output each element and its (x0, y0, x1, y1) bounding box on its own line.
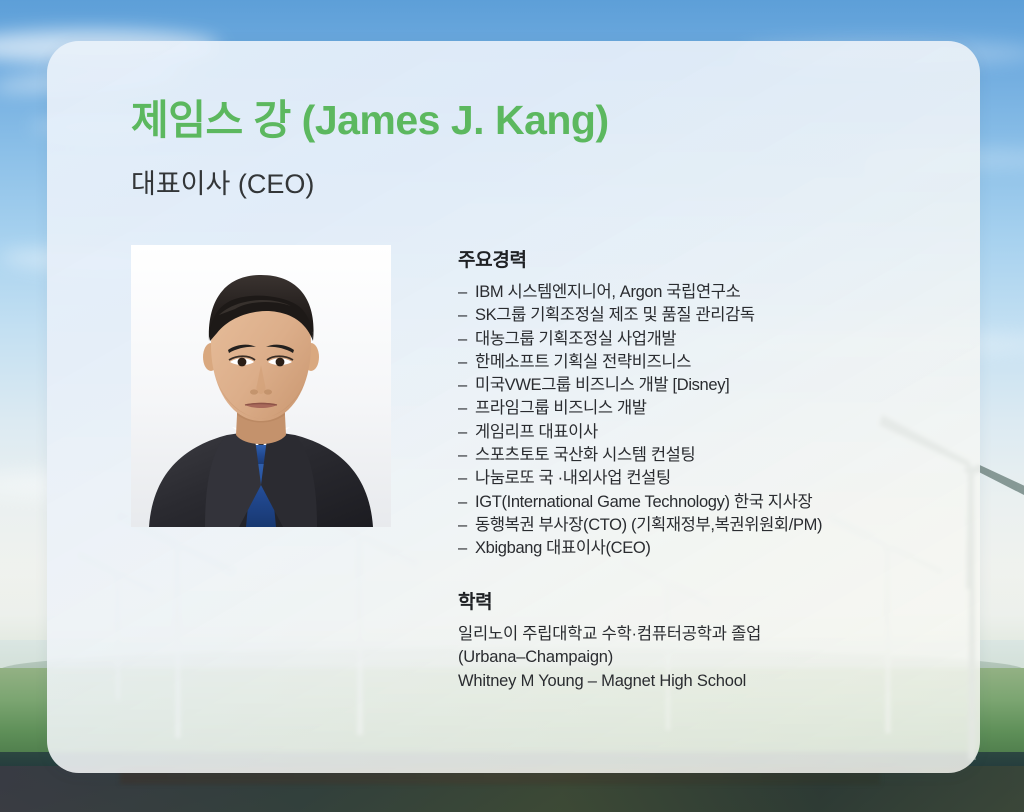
page-title: 제임스 강 (James J. Kang) (131, 86, 609, 146)
experience-item: –게임리프 대표이사 (458, 421, 888, 444)
education-line: 일리노이 주립대학교 수학·컴퓨터공학과 졸업 (458, 623, 888, 647)
bullet-dash-icon: – (458, 397, 467, 420)
experience-item: –한메소프트 기획실 전략비즈니스 (458, 351, 888, 374)
experience-item-label: 한메소프트 기획실 전략비즈니스 (475, 353, 691, 371)
education-line: (Urbana–Champaign) (458, 646, 888, 670)
experience-item: –스포츠토토 국산화 시스템 컨설팅 (458, 444, 888, 467)
experience-heading: 주요경력 (458, 245, 888, 272)
bullet-dash-icon: – (458, 328, 467, 351)
experience-item-label: 대농그룹 기획조정실 사업개발 (475, 330, 676, 348)
bullet-dash-icon: – (458, 444, 467, 467)
bullet-dash-icon: – (458, 304, 467, 327)
experience-item-label: Xbigbang 대표이사(CEO) (475, 539, 650, 557)
profile-position: 대표이사 (CEO) (131, 162, 314, 201)
bullet-dash-icon: – (458, 514, 467, 537)
education-block: 학력 일리노이 주립대학교 수학·컴퓨터공학과 졸업(Urbana–Champa… (458, 587, 888, 694)
experience-item-label: 동행복권 부사장(CTO) (기획재정부,복권위원회/PM) (475, 516, 822, 534)
experience-item: –미국VWE그룹 비즈니스 개발 [Disney] (458, 374, 888, 397)
experience-item-label: 스포츠토토 국산화 시스템 컨설팅 (475, 446, 695, 464)
experience-item: –프라임그룹 비즈니스 개발 (458, 397, 888, 420)
details-column: 주요경력 –IBM 시스템엔지니어, Argon 국립연구소–SK그룹 기획조정… (458, 245, 888, 693)
bullet-dash-icon: – (458, 467, 467, 490)
experience-item-label: 나눔로또 국 ·내외사업 컨설팅 (475, 469, 671, 487)
bullet-dash-icon: – (458, 281, 467, 304)
experience-item-label: 미국VWE그룹 비즈니스 개발 [Disney] (475, 376, 729, 394)
experience-item-label: IBM 시스템엔지니어, Argon 국립연구소 (475, 283, 740, 301)
headshot-illustration (131, 245, 391, 527)
experience-item-label: IGT(International Game Technology) 한국 지사… (475, 493, 812, 511)
experience-item: –IBM 시스템엔지니어, Argon 국립연구소 (458, 281, 888, 304)
experience-item: –나눔로또 국 ·내외사업 컨설팅 (458, 467, 888, 490)
avatar (131, 245, 391, 527)
experience-item-label: SK그룹 기획조정실 제조 및 품질 관리감독 (475, 306, 755, 324)
experience-item-label: 프라임그룹 비즈니스 개발 (475, 399, 647, 417)
experience-item: –Xbigbang 대표이사(CEO) (458, 537, 888, 560)
experience-item: –동행복권 부사장(CTO) (기획재정부,복권위원회/PM) (458, 514, 888, 537)
bullet-dash-icon: – (458, 537, 467, 560)
bullet-dash-icon: – (458, 421, 467, 444)
experience-item: –IGT(International Game Technology) 한국 지… (458, 491, 888, 514)
experience-list: –IBM 시스템엔지니어, Argon 국립연구소–SK그룹 기획조정실 제조 … (458, 281, 888, 561)
bullet-dash-icon: – (458, 491, 467, 514)
experience-item: –대농그룹 기획조정실 사업개발 (458, 328, 888, 351)
bullet-dash-icon: – (458, 374, 467, 397)
experience-item-label: 게임리프 대표이사 (475, 423, 598, 441)
experience-item: –SK그룹 기획조정실 제조 및 품질 관리감독 (458, 304, 888, 327)
bullet-dash-icon: – (458, 351, 467, 374)
slide-root: 제임스 강 (James J. Kang) 대표이사 (CEO) (0, 0, 1024, 812)
education-line: Whitney M Young – Magnet High School (458, 670, 888, 694)
education-lines: 일리노이 주립대학교 수학·컴퓨터공학과 졸업(Urbana–Champaign… (458, 623, 888, 694)
education-heading: 학력 (458, 587, 888, 614)
